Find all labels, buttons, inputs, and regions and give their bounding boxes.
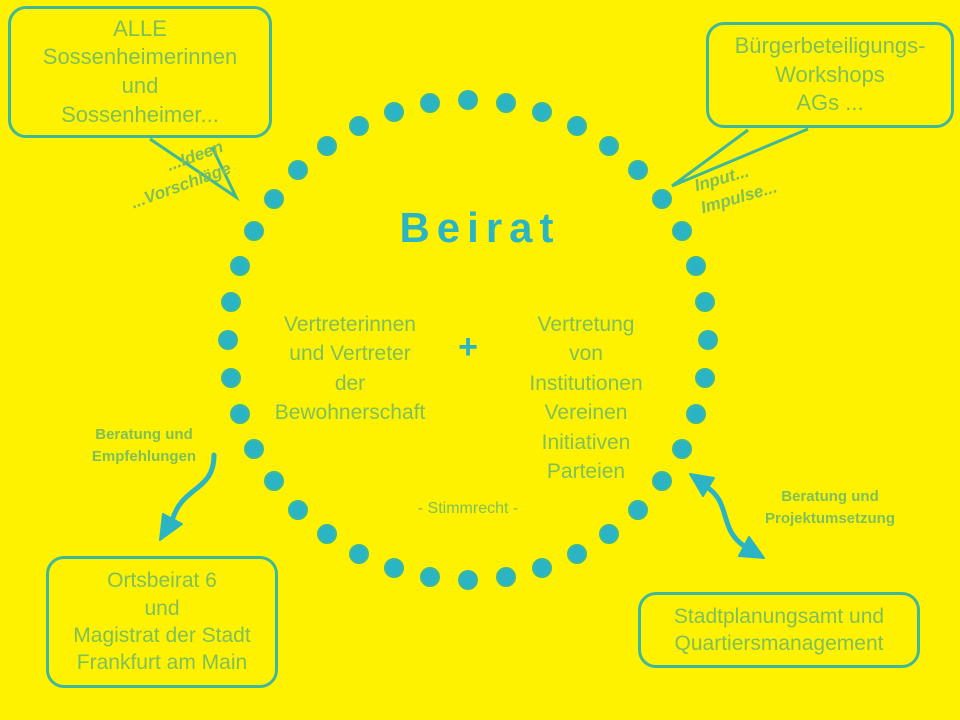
annotation-beratung-projekt-line-2: Projektumsetzung xyxy=(740,508,920,530)
ring-dot xyxy=(686,404,706,424)
bubble-citizens-line-3: und xyxy=(122,72,159,101)
ring-dot xyxy=(230,404,250,424)
center-right-line-1: Vertretung xyxy=(494,310,678,339)
ring-dot xyxy=(567,116,587,136)
ring-dot xyxy=(230,256,250,276)
ring-dot xyxy=(532,558,552,578)
bubble-ortsbeirat-line-1: Ortsbeirat 6 xyxy=(107,567,217,594)
ring-dot xyxy=(221,292,241,312)
bubble-citizens-line-1: ALLE xyxy=(113,15,167,44)
plus-icon: + xyxy=(450,330,486,366)
bubble-workshops-line-3: AGs ... xyxy=(796,89,863,118)
ring-dot xyxy=(567,544,587,564)
ring-dot xyxy=(349,544,369,564)
bubble-workshops[interactable]: Bürgerbeteiligungs- Workshops AGs ... xyxy=(706,22,954,128)
center-left-line-1: Vertreterinnen xyxy=(258,310,442,339)
bubble-ortsbeirat-line-3: Magistrat der Stadt xyxy=(73,622,250,649)
arrow-beratung-projekt xyxy=(705,486,744,546)
ring-dot xyxy=(244,439,264,459)
center-left-line-2: und Vertreter xyxy=(258,339,442,368)
ring-dot xyxy=(695,368,715,388)
bubble-citizens-line-4: Sossenheimer... xyxy=(61,101,219,130)
center-right-line-5: Initiativen xyxy=(494,428,678,457)
bubble-citizens-line-2: Sossenheimerinnen xyxy=(43,43,237,72)
bubble-stadtplanung-line-1: Stadtplanungsamt und xyxy=(674,603,884,630)
annotation-beratung-projektumsetzung: Beratung und Projektumsetzung xyxy=(740,486,920,530)
ring-dot xyxy=(695,292,715,312)
bubble-workshops-line-2: Workshops xyxy=(775,61,885,90)
ring-dot xyxy=(599,136,619,156)
footnote-stimmrecht: - Stimmrecht - xyxy=(348,500,588,518)
bubble-stadtplanung-line-2: Quartiersmanagement xyxy=(675,630,884,657)
center-column-institutions: Vertretung von Institutionen Vereinen In… xyxy=(494,310,678,486)
bubble-ortsbeirat-line-2: und xyxy=(144,595,179,622)
center-left-line-4: Bewohnerschaft xyxy=(258,398,442,427)
ring-dot xyxy=(420,567,440,587)
ring-dot xyxy=(496,567,516,587)
ring-dot xyxy=(420,93,440,113)
bubble-workshops-line-1: Bürgerbeteiligungs- xyxy=(735,32,926,61)
ring-dot xyxy=(628,160,648,180)
ring-dot xyxy=(317,524,337,544)
ring-dot xyxy=(628,500,648,520)
center-right-line-4: Vereinen xyxy=(494,398,678,427)
annotation-beratung-empfehlungen-line-1: Beratung und xyxy=(74,424,214,446)
center-left-line-3: der xyxy=(258,369,442,398)
bubble-ortsbeirat[interactable]: Ortsbeirat 6 und Magistrat der Stadt Fra… xyxy=(46,556,278,688)
bubble-stadtplanung[interactable]: Stadtplanungsamt und Quartiersmanagement xyxy=(638,592,920,668)
ring-dot xyxy=(496,93,516,113)
ring-dot xyxy=(458,570,478,590)
diagram-canvas: ALLE Sossenheimerinnen und Sossenheimer.… xyxy=(0,0,960,720)
ring-dot xyxy=(288,160,308,180)
ring-dot xyxy=(384,558,404,578)
ring-dot xyxy=(384,102,404,122)
arrow-head-projekt-down xyxy=(739,537,764,558)
center-column-residents: Vertreterinnen und Vertreter der Bewohne… xyxy=(258,310,442,428)
ring-dot xyxy=(458,90,478,110)
bubble-citizens[interactable]: ALLE Sossenheimerinnen und Sossenheimer.… xyxy=(8,6,272,138)
ring-dot xyxy=(532,102,552,122)
annotation-beratung-empfehlungen-line-2: Empfehlungen xyxy=(74,446,214,468)
bubble-ortsbeirat-line-4: Frankfurt am Main xyxy=(77,649,247,676)
ring-dot xyxy=(698,330,718,350)
ring-dot xyxy=(686,256,706,276)
center-right-line-2: von xyxy=(494,339,678,368)
center-right-line-6: Parteien xyxy=(494,457,678,486)
center-right-line-3: Institutionen xyxy=(494,369,678,398)
ring-dot xyxy=(288,500,308,520)
ring-dot xyxy=(349,116,369,136)
arrow-head-projekt-up xyxy=(690,474,714,496)
ring-dot xyxy=(221,368,241,388)
annotation-beratung-projekt-line-1: Beratung und xyxy=(740,486,920,508)
ring-dot xyxy=(317,136,337,156)
ring-dot xyxy=(218,330,238,350)
ring-dot xyxy=(599,524,619,544)
ring-dot xyxy=(264,471,284,491)
arrow-head-empfehlungen xyxy=(160,514,182,540)
annotation-beratung-empfehlungen: Beratung und Empfehlungen xyxy=(74,424,214,468)
